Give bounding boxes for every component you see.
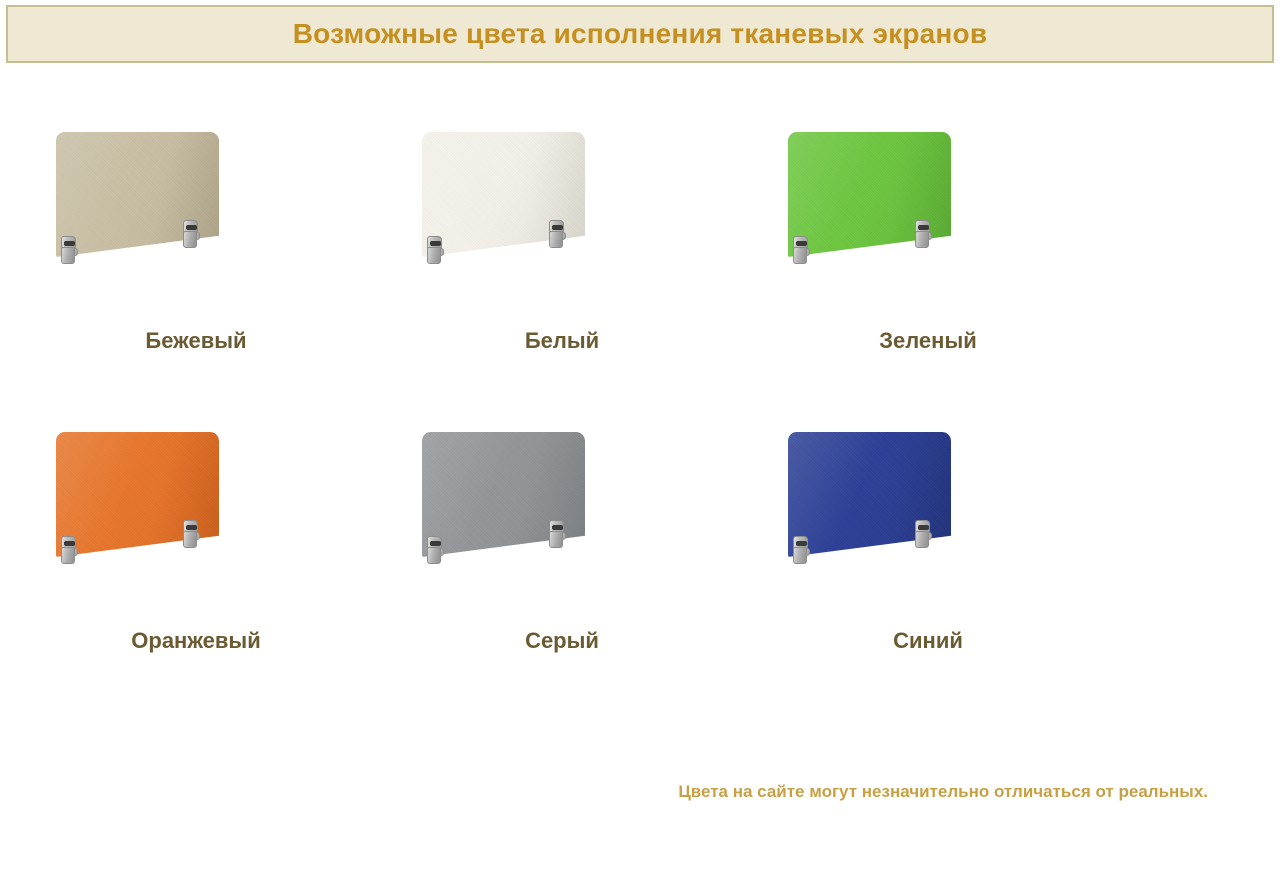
fabric-screen-illustration bbox=[412, 132, 712, 322]
color-swatch-item[interactable]: Белый bbox=[412, 100, 778, 400]
page-header-banner: Возможные цвета исполнения тканевых экра… bbox=[6, 5, 1274, 63]
color-swatch-label: Синий bbox=[778, 628, 1078, 654]
color-swatch-item[interactable]: Серый bbox=[412, 400, 778, 700]
screen-clamp-bracket-right bbox=[914, 220, 931, 250]
color-swatch-label: Бежевый bbox=[46, 328, 346, 354]
color-disclaimer-note: Цвета на сайте могут незначительно отлич… bbox=[0, 782, 1280, 802]
fabric-screen-illustration bbox=[778, 132, 1078, 322]
screen-clamp-bracket-left bbox=[792, 236, 809, 266]
screen-clamp-bracket-right bbox=[548, 520, 565, 550]
screen-clamp-bracket-left bbox=[426, 536, 443, 566]
screen-clamp-bracket-left bbox=[60, 236, 77, 266]
screen-clamp-bracket-left bbox=[792, 536, 809, 566]
fabric-screen-illustration bbox=[412, 432, 712, 622]
color-swatch-label: Оранжевый bbox=[46, 628, 346, 654]
fabric-screen-illustration bbox=[778, 432, 1078, 622]
screen-clamp-bracket-left bbox=[60, 536, 77, 566]
color-swatch-label: Серый bbox=[412, 628, 712, 654]
screen-clamp-bracket-right bbox=[914, 520, 931, 550]
screen-clamp-bracket-right bbox=[182, 520, 199, 550]
color-swatch-label: Зеленый bbox=[778, 328, 1078, 354]
color-swatch-item[interactable]: Бежевый bbox=[46, 100, 412, 400]
screen-clamp-bracket-right bbox=[548, 220, 565, 250]
color-swatch-item[interactable]: Оранжевый bbox=[46, 400, 412, 700]
fabric-screen-color-grid: БежевыйБелыйЗеленыйОранжевыйСерыйСиний bbox=[0, 100, 1280, 700]
color-swatch-item[interactable]: Зеленый bbox=[778, 100, 1144, 400]
screen-clamp-bracket-left bbox=[426, 236, 443, 266]
screen-clamp-bracket-right bbox=[182, 220, 199, 250]
color-swatch-item[interactable]: Синий bbox=[778, 400, 1144, 700]
color-swatch-label: Белый bbox=[412, 328, 712, 354]
fabric-screen-illustration bbox=[46, 132, 346, 322]
fabric-screen-illustration bbox=[46, 432, 346, 622]
page-title: Возможные цвета исполнения тканевых экра… bbox=[293, 20, 987, 48]
